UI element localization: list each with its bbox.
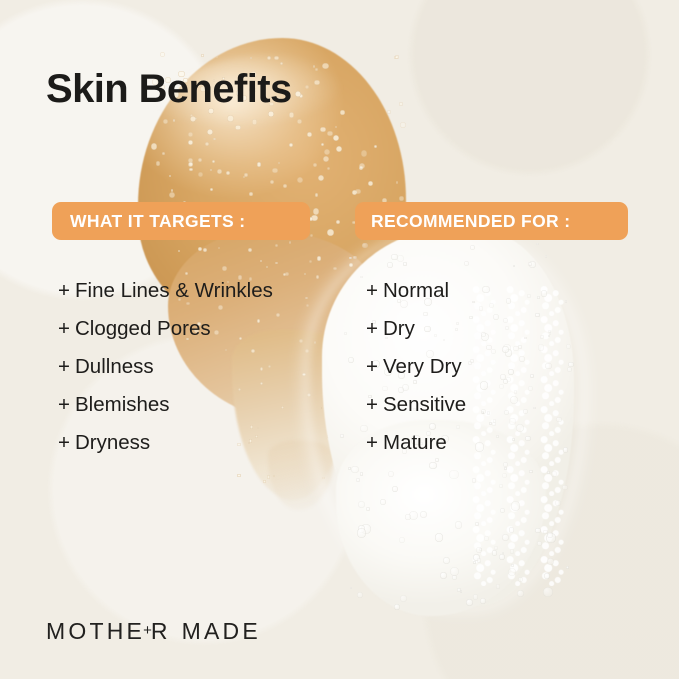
list-item: + Dryness xyxy=(58,424,273,462)
list-item: + Clogged Pores xyxy=(58,310,273,348)
list-item: + Very Dry xyxy=(366,348,466,386)
list-item: + Blemishes xyxy=(58,386,273,424)
recommended-list: + Normal + Dry + Very Dry + Sensitive + … xyxy=(366,272,466,462)
plus-bullet-icon: + xyxy=(58,310,75,348)
page-title: Skin Benefits xyxy=(46,68,292,110)
list-item: + Dry xyxy=(366,310,466,348)
plus-bullet-icon: + xyxy=(366,272,383,310)
list-item-label: Fine Lines & Wrinkles xyxy=(75,272,273,310)
list-item: + Normal xyxy=(366,272,466,310)
brand-logo: MOTHE + R MADE xyxy=(46,618,261,645)
plus-bullet-icon: + xyxy=(366,424,383,462)
brand-plus-icon: + xyxy=(143,622,152,639)
column-header-targets: WHAT IT TARGETS : xyxy=(52,202,310,240)
plus-bullet-icon: + xyxy=(58,386,75,424)
plus-bullet-icon: + xyxy=(366,386,383,424)
plus-bullet-icon: + xyxy=(58,348,75,386)
list-item-label: Dullness xyxy=(75,348,154,386)
targets-list: + Fine Lines & Wrinkles + Clogged Pores … xyxy=(58,272,273,462)
brand-logo-word-two: MADE xyxy=(182,618,261,645)
list-item: + Fine Lines & Wrinkles xyxy=(58,272,273,310)
list-item-label: Very Dry xyxy=(383,348,462,386)
plus-bullet-icon: + xyxy=(58,424,75,462)
plus-bullet-icon: + xyxy=(58,272,75,310)
brand-logo-part-a: MOTHE xyxy=(46,618,145,645)
list-item: + Mature xyxy=(366,424,466,462)
column-header-recommended-label: RECOMMENDED FOR : xyxy=(371,211,570,232)
list-item-label: Normal xyxy=(383,272,449,310)
plus-bullet-icon: + xyxy=(366,348,383,386)
list-item-label: Sensitive xyxy=(383,386,466,424)
plus-bullet-icon: + xyxy=(366,310,383,348)
list-item-label: Blemishes xyxy=(75,386,170,424)
list-item: + Dullness xyxy=(58,348,273,386)
column-header-recommended: RECOMMENDED FOR : xyxy=(355,202,628,240)
list-item-label: Dryness xyxy=(75,424,150,462)
brand-logo-part-b: R xyxy=(151,618,171,645)
list-item: + Sensitive xyxy=(366,386,466,424)
list-item-label: Clogged Pores xyxy=(75,310,211,348)
list-item-label: Dry xyxy=(383,310,415,348)
column-header-targets-label: WHAT IT TARGETS : xyxy=(70,211,245,232)
skin-benefits-card: Skin Benefits WHAT IT TARGETS : RECOMMEN… xyxy=(0,0,679,679)
list-item-label: Mature xyxy=(383,424,447,462)
